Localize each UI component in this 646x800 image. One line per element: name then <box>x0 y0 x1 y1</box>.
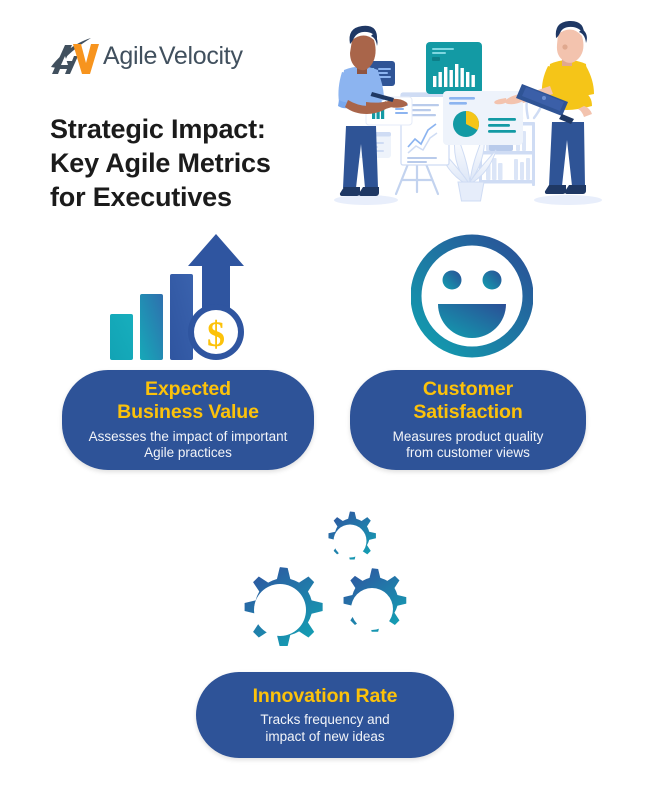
metric-card-expected-business-value[interactable]: Expected Business Value Assesses the imp… <box>62 370 314 470</box>
two-people-presenting-business-analytics-illustration <box>316 14 636 214</box>
metric-title: Expected Business Value <box>117 378 259 423</box>
metric-card-customer-satisfaction[interactable]: Customer Satisfaction Measures product q… <box>350 370 586 470</box>
agile-velocity-av-logo-icon <box>50 34 102 78</box>
growth-bar-chart-arrow-dollar-icon: $ <box>104 228 254 364</box>
brand-name: Agile Velocity <box>103 42 243 71</box>
metric-title: Innovation Rate <box>253 685 398 708</box>
page-title: Strategic Impact: Key Agile Metrics for … <box>50 112 350 214</box>
metric-title: Customer Satisfaction <box>413 378 522 423</box>
smiley-face-icon <box>411 228 533 364</box>
metric-description: Measures product quality from customer v… <box>393 429 544 462</box>
infographic-page: Agile Velocity Strategic Impact: Key Agi… <box>0 0 646 800</box>
svg-text:$: $ <box>207 314 225 354</box>
metric-card-innovation-rate[interactable]: Innovation Rate Tracks frequency and imp… <box>196 672 454 758</box>
brand-logo[interactable]: Agile Velocity <box>50 34 243 78</box>
three-gears-icon <box>225 505 410 670</box>
metric-description: Assesses the impact of important Agile p… <box>89 429 288 462</box>
metric-description: Tracks frequency and impact of new ideas <box>260 712 389 745</box>
